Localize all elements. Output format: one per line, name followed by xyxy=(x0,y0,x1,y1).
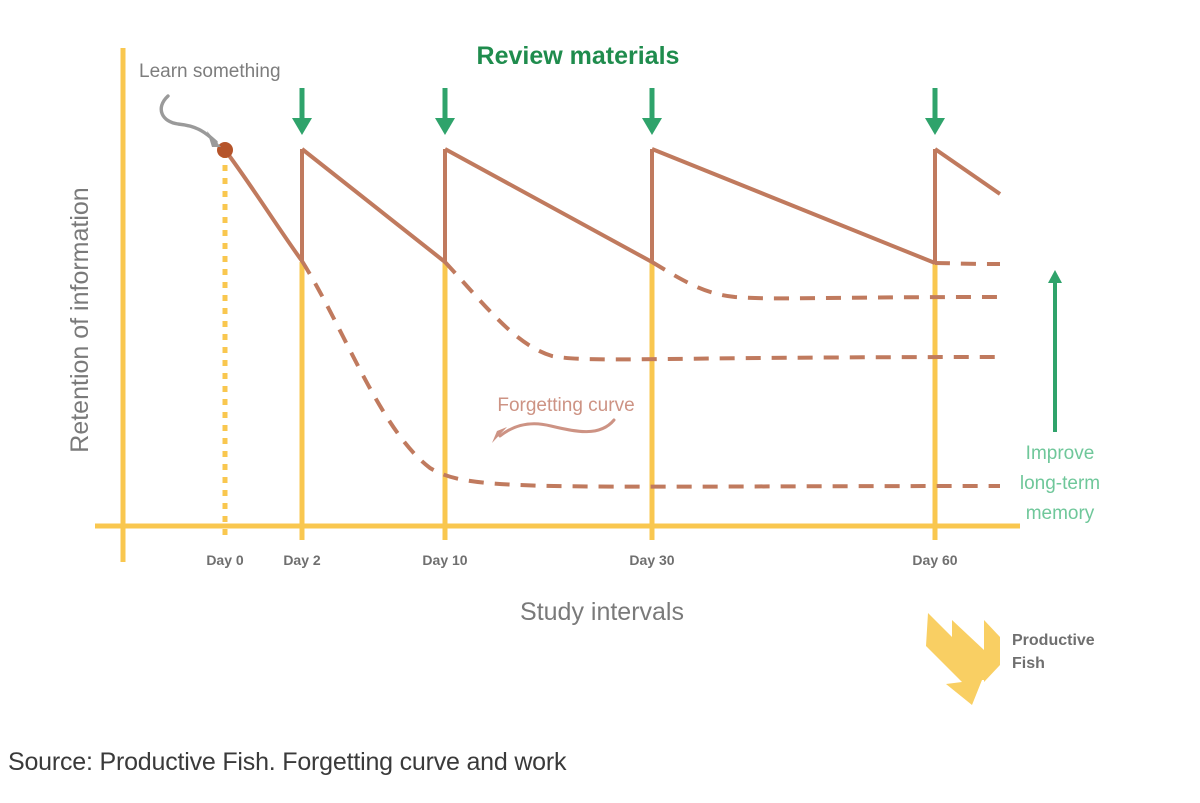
chart-title: Review materials xyxy=(477,42,680,70)
learning-point-dot xyxy=(217,142,233,158)
x-tick-label-day-30: Day 30 xyxy=(629,552,674,568)
learn-something-pointer-arrow xyxy=(161,96,216,142)
y-axis-title: Retention of information xyxy=(66,187,94,452)
retention-decay-day2-day10 xyxy=(302,149,445,262)
infographic-root: Review materials Learn something Forgett… xyxy=(0,0,1200,803)
retention-decay-after-day60 xyxy=(935,149,1000,194)
review-arrow-day-60 xyxy=(925,88,945,135)
retention-decay-day30-day60 xyxy=(652,149,935,263)
review-arrows-group xyxy=(292,88,945,135)
improve-memory-label-line2: long-term xyxy=(1020,473,1100,494)
improve-memory-label-line3: memory xyxy=(1026,503,1095,524)
improve-memory-arrow xyxy=(1048,270,1062,432)
source-caption: Source: Productive Fish. Forgetting curv… xyxy=(8,748,566,777)
retention-sawtooth-group xyxy=(225,149,1000,264)
fish-icon xyxy=(926,613,984,705)
productive-fish-logo xyxy=(926,613,1000,705)
x-axis-title: Study intervals xyxy=(520,598,684,626)
forgetting-curve-chart: Review materials Learn something Forgett… xyxy=(0,0,1200,730)
forgetting-curve-arrowhead-icon xyxy=(492,427,507,443)
x-tick-label-day-60: Day 60 xyxy=(912,552,957,568)
review-arrow-day-30 xyxy=(642,88,662,135)
forgetting-curve-after-day10 xyxy=(652,262,1000,298)
learn-something-arrowhead-icon xyxy=(207,131,221,147)
x-tick-label-day-0: Day 0 xyxy=(206,552,244,568)
brand-name-line1: Productive xyxy=(1012,632,1095,649)
forgetting-curve-after-day30 xyxy=(935,263,1000,264)
retention-decay-day0-day2 xyxy=(225,150,302,261)
retention-decay-day10-day30 xyxy=(445,149,652,262)
fish-tail-icon xyxy=(984,620,1000,682)
review-arrow-day-2 xyxy=(292,88,312,135)
x-tick-label-day-2: Day 2 xyxy=(283,552,321,568)
forgetting-curve-label: Forgetting curve xyxy=(497,395,634,416)
improve-memory-label-line1: Improve xyxy=(1026,443,1095,464)
learn-something-label: Learn something xyxy=(139,61,281,82)
forgetting-curve-after-day2 xyxy=(445,262,1000,359)
brand-name-line2: Fish xyxy=(1012,655,1045,672)
x-tick-label-day-10: Day 10 xyxy=(422,552,467,568)
forgetting-curve-pointer-arrow xyxy=(500,420,614,436)
review-arrow-day-10 xyxy=(435,88,455,135)
